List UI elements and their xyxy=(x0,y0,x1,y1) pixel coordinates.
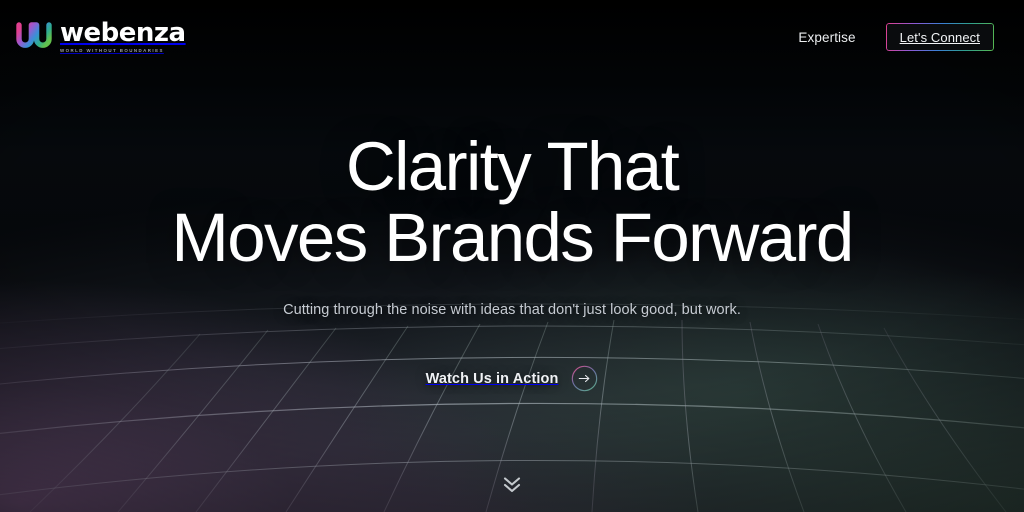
background-green-glow xyxy=(0,0,1024,512)
logo-tagline: WORLD WITHOUT BOUNDARIES xyxy=(60,49,186,53)
lets-connect-label: Let's Connect xyxy=(900,30,980,45)
headline-line-1: Clarity That xyxy=(346,128,678,205)
watch-us-in-action-label: Watch Us in Action xyxy=(426,371,559,387)
logo-wordmark: webenza xyxy=(60,20,186,46)
watch-us-in-action-link[interactable]: Watch Us in Action xyxy=(426,365,599,392)
background-base-gradient xyxy=(0,0,1024,512)
hero-subheadline: Cutting through the noise with ideas tha… xyxy=(283,302,741,318)
background-purple-glow xyxy=(0,0,1024,512)
headline-line-2: Moves Brands Forward xyxy=(171,203,852,272)
logo-link[interactable]: webenza WORLD WITHOUT BOUNDARIES xyxy=(16,20,186,53)
lets-connect-button[interactable]: Let's Connect xyxy=(886,23,994,51)
arrow-right-circle-icon xyxy=(571,365,598,392)
hero-section: Clarity That Moves Brands Forward Cuttin… xyxy=(0,0,1024,512)
chevron-double-down-icon xyxy=(497,468,527,498)
site-header: webenza WORLD WITHOUT BOUNDARIES Experti… xyxy=(0,0,1024,74)
wireframe-globe-graphic xyxy=(0,0,1024,512)
background-mid-glow xyxy=(0,0,1024,512)
background-vignette xyxy=(0,0,1024,512)
webenza-w-gradient-icon xyxy=(16,22,52,52)
background-top-shade xyxy=(0,0,1024,512)
hero-page: webenza WORLD WITHOUT BOUNDARIES Experti… xyxy=(0,0,1024,512)
page-title: Clarity That Moves Brands Forward xyxy=(171,132,852,272)
main-nav: Expertise Let's Connect xyxy=(798,23,994,51)
scroll-down-button[interactable] xyxy=(497,468,527,498)
nav-item-expertise[interactable]: Expertise xyxy=(798,30,855,45)
